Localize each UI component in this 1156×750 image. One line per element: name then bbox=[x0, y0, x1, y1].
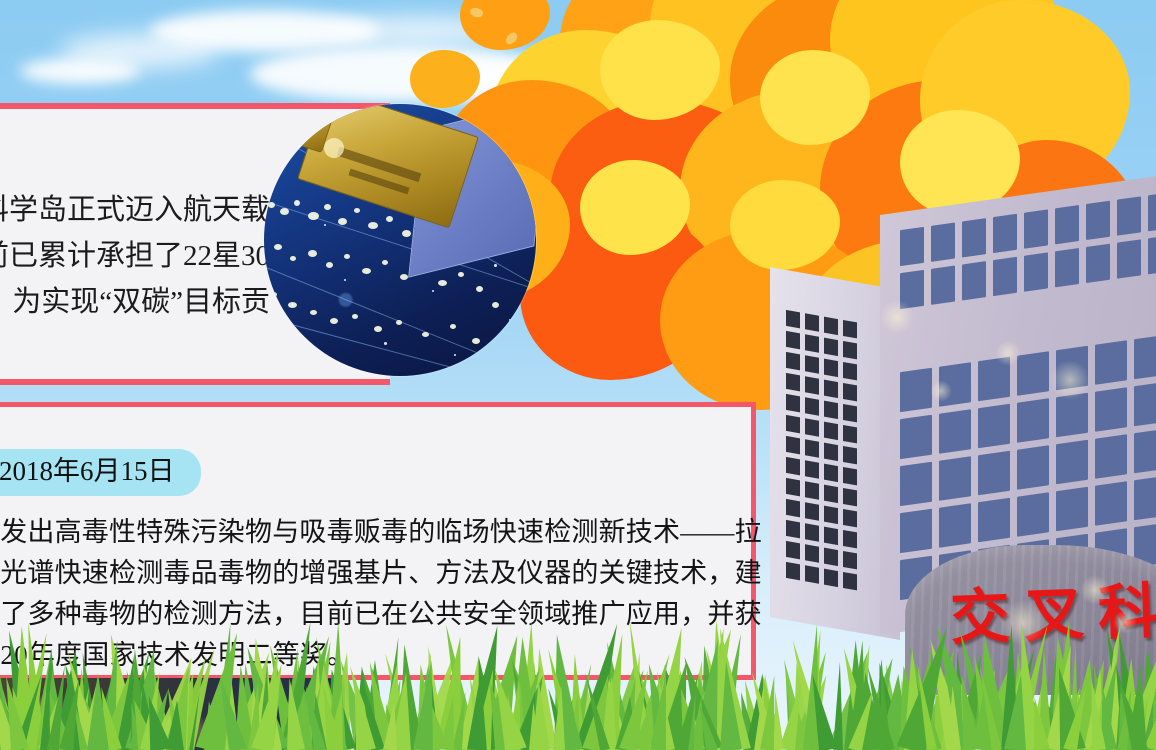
grass-blade bbox=[528, 702, 539, 750]
bokeh-light bbox=[880, 300, 914, 334]
paragraph-line: 研发出高毒性特殊污染物与吸毒贩毒的临场快速检测新技术——拉 bbox=[0, 512, 733, 553]
foreground-grass bbox=[0, 600, 1156, 750]
bokeh-light bbox=[1050, 360, 1090, 400]
cloud bbox=[20, 58, 140, 84]
bokeh-light bbox=[930, 380, 952, 402]
poster-canvas: 交叉科 科学岛正式迈入航天载 前已累计承担了22星30 为实现“双碳”目标贡 bbox=[0, 0, 1156, 750]
satellite-earth-night-photo bbox=[264, 104, 536, 376]
bokeh-light bbox=[995, 340, 1021, 366]
paragraph-line: 曼光谱快速检测毒品毒物的增强基片、方法及仪器的关键技术，建 bbox=[0, 553, 733, 594]
date-badge-wrap: 2018年6月15日 bbox=[0, 449, 751, 496]
grass-blade bbox=[833, 662, 845, 750]
date-badge: 2018年6月15日 bbox=[0, 449, 201, 496]
grass-blade bbox=[87, 673, 109, 750]
grass-blade bbox=[946, 686, 961, 750]
